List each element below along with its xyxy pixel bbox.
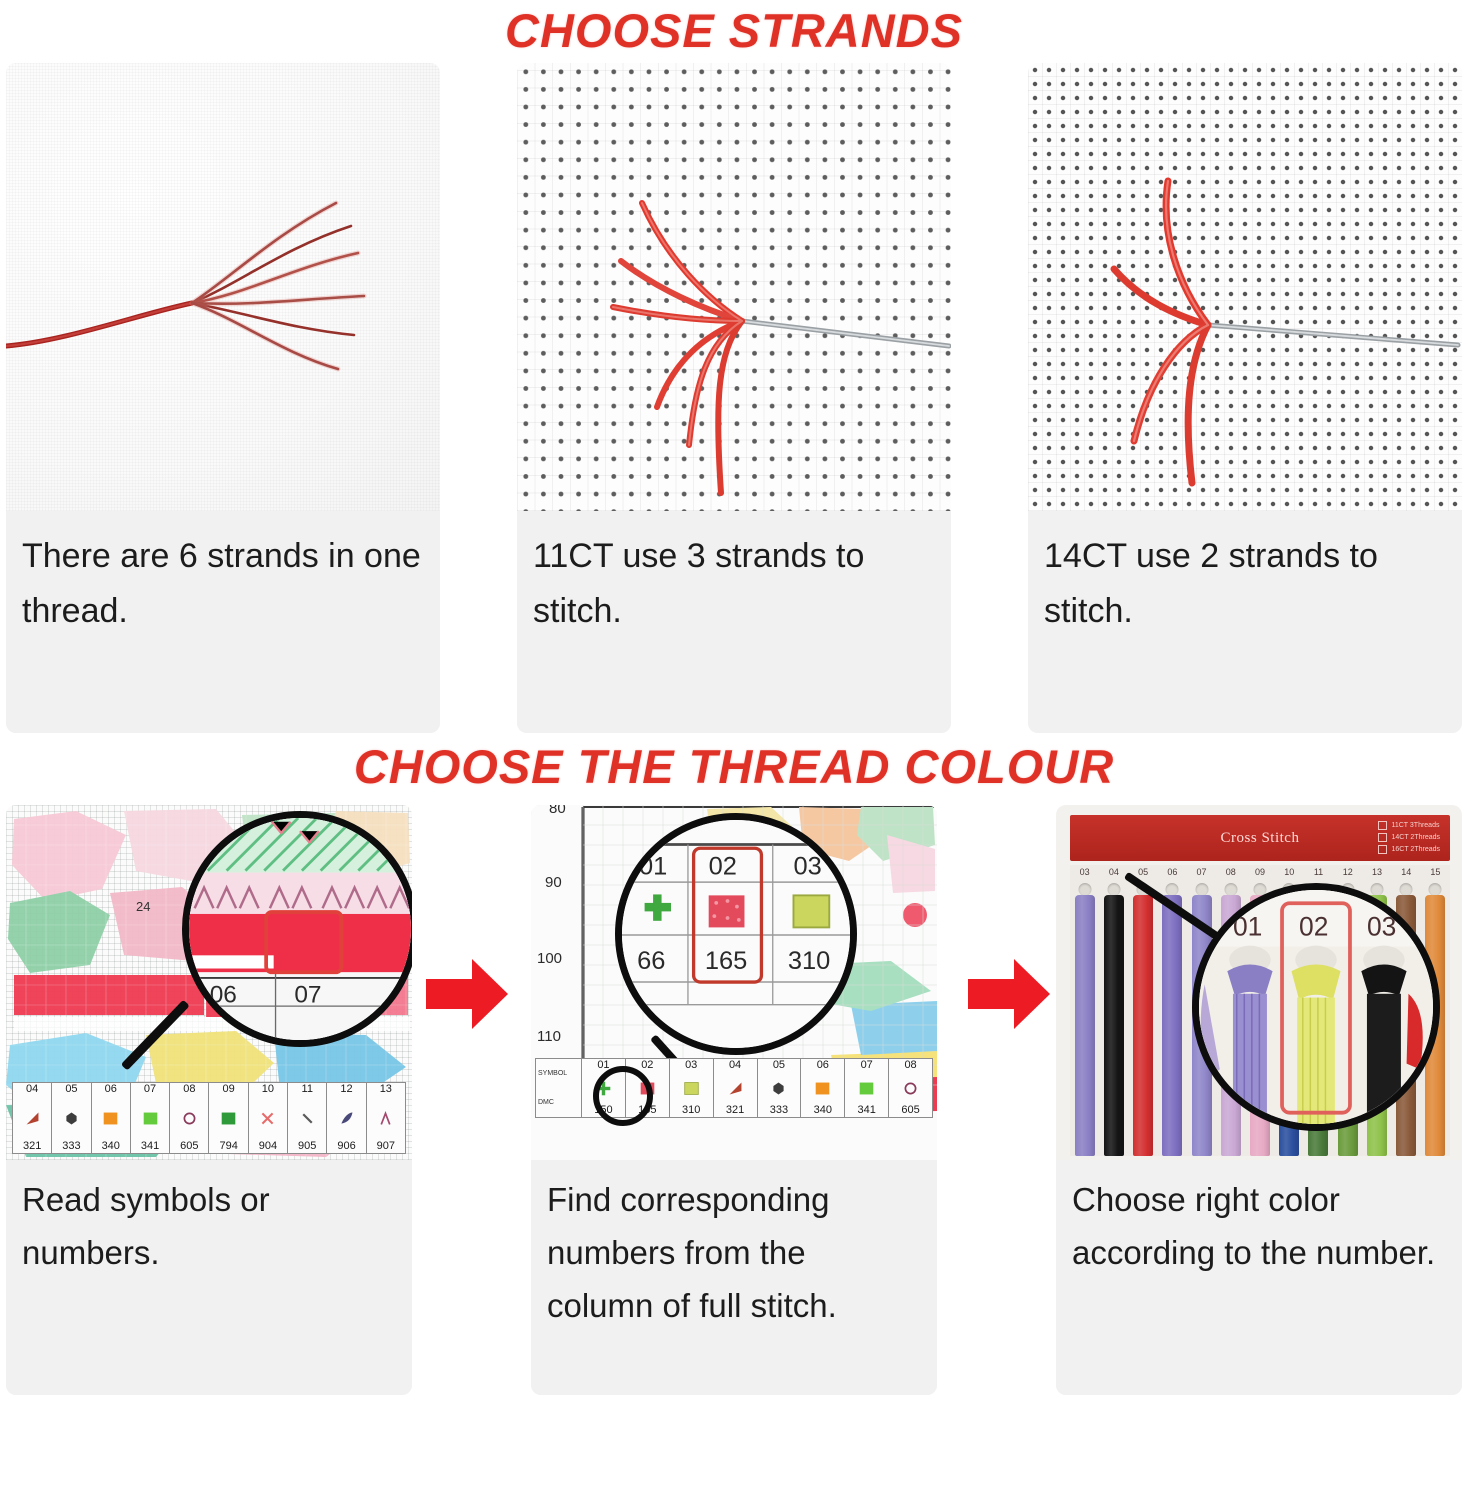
legend-cell-dmc-code: 605 [901,1105,919,1116]
caption-six-strands: There are 6 strands in one thread. [6,511,440,733]
thread-skein-number: 12 [1333,867,1362,877]
sewing-needle-icon [1208,325,1458,345]
card-choose-color: Cross Stitch 11CT 3Threads14CT 2Threads1… [1056,805,1462,1395]
magnified-column-02: 02 [709,853,737,881]
card-find-numbers: 80 90 100 110 [531,805,937,1395]
strands-card-row: There are 6 strands in one thread. [0,63,1468,733]
legend-cell-dmc-code: 906 [337,1141,355,1152]
yellow-green-square-icon [683,1080,700,1097]
dark-green-square-icon [220,1110,237,1127]
legend-cell-dmc-code: 907 [377,1141,395,1152]
section-heading-choose-strands: CHOOSE STRANDS [0,0,1468,63]
thread-skein-number: 11 [1304,867,1333,877]
thread-board-header: Cross Stitch 11CT 3Threads14CT 2Threads1… [1070,815,1450,861]
thread-skein[interactable]: 05 [1128,881,1157,1156]
legend-cell: 05333 [52,1083,91,1153]
magnified-skein-number-02: 02 [1299,911,1328,941]
magnified-cell-number-left: 06 [210,981,237,1008]
legend-cell-dmc-code: 905 [298,1141,316,1152]
magnified-skein-detail: 01 02 03 [1199,890,1433,1124]
thread-count-option[interactable]: 16CT 2Threads [1378,845,1440,854]
orange-square-icon [814,1080,831,1097]
photo-pattern-key: 80 90 100 110 [531,805,937,1160]
green-square-icon [858,1080,875,1097]
legend-cell: 07341 [845,1059,889,1117]
orange-square-icon [102,1110,119,1127]
legend-cell-number: 07 [144,1084,156,1095]
sewing-needle-icon [742,321,949,346]
caption-choose-color: Choose right color according to the numb… [1056,1160,1462,1395]
pattern-legend-table: 0432105333063400734108605097941090411905… [12,1082,406,1154]
caption-11ct: 11CT use 3 strands to stitch. [517,511,951,733]
legend-row-labels: SYMBOLDMC [536,1059,582,1117]
legend-cell-number: 08 [183,1084,195,1095]
six-strand-thread-illustration [6,63,440,511]
thread-skein-number: 09 [1245,867,1274,877]
circle-outline-icon [902,1080,919,1097]
photo-pattern-chart: 24 [6,805,412,1160]
legend-cell-number: 08 [904,1060,916,1071]
legend-cell-dmc-code: 341 [858,1105,876,1116]
legend-cell-dmc-code: 321 [726,1105,744,1116]
legend-cell-dmc-code: 341 [141,1141,159,1152]
legend-cell-number: 05 [65,1084,77,1095]
legend-cell-dmc-code: 333 [770,1105,788,1116]
legend-cell-number: 04 [26,1084,38,1095]
checkbox-icon[interactable] [1378,845,1387,854]
skein-01-purple [1227,965,1272,1124]
card-11ct: 11CT use 3 strands to stitch. [517,63,951,733]
magnified-skein-number-03: 03 [1367,911,1396,941]
photo-14ct [1028,63,1462,511]
green-square-icon [142,1110,159,1127]
legend-cell-dmc-code: 333 [62,1141,80,1152]
needle-and-two-strands-illustration [1028,63,1462,511]
legend-cell-dmc-code: 340 [814,1105,832,1116]
legend-cell-dmc-code: 340 [102,1141,120,1152]
legend-cell-number: 13 [380,1084,392,1095]
legend-cell: 12906 [327,1083,366,1153]
legend-cell-dmc-code: 904 [259,1141,277,1152]
magnified-colour-key-detail: 01 02 03 66 165 [622,820,850,1048]
skein-02-yellow [1291,965,1340,1124]
legend-cell-dmc-code: 310 [682,1105,700,1116]
axis-label-100: 100 [537,950,562,967]
caption-find-numbers: Find corresponding numbers from the colu… [531,1160,937,1395]
triangle-flag-icon [727,1080,744,1097]
thread-board-title: Cross Stitch [1221,830,1300,847]
checkbox-icon[interactable] [1378,833,1387,842]
legend-cell: 06340 [92,1083,131,1153]
legend-cell-number: 04 [729,1060,741,1071]
legend-cell: 13907 [367,1083,405,1153]
x-cross-icon [259,1110,276,1127]
axis-label-110: 110 [537,1028,561,1045]
magnifier-lens-colour-key[interactable]: 01 02 03 66 165 [615,813,857,1055]
skein-floss-bundle [1133,895,1153,1156]
magnified-column-01: 01 [639,853,667,881]
yellow-green-square-icon [793,895,829,927]
caption-14ct: 14CT use 2 strands to stitch. [1028,511,1462,733]
magnified-pattern-detail: 06 07 [189,818,411,1040]
right-arrow-icon [966,955,1052,1033]
skein-floss-bundle [1104,895,1124,1156]
thread-count-options: 11CT 3Threads14CT 2Threads16CT 2Threads [1378,821,1440,854]
legend-cell-number: 11 [302,1084,313,1095]
legend-cell: 08605 [170,1083,209,1153]
legend-cell: 07341 [131,1083,170,1153]
magnified-code-66: 66 [637,947,665,975]
magnified-column-03: 03 [793,853,821,881]
needle-and-three-strands-illustration [517,63,951,511]
photo-thread-board: Cross Stitch 11CT 3Threads14CT 2Threads1… [1056,805,1462,1160]
axis-label-80: 80 [549,805,566,817]
legend-cell-dmc-code: 321 [23,1141,41,1152]
caret-icon [377,1110,394,1127]
thread-skein-number: 03 [1070,867,1099,877]
thread-skein[interactable]: 04 [1099,881,1128,1156]
legend-cell-number: 05 [773,1060,785,1071]
legend-row-label: SYMBOL [538,1070,581,1077]
legend-cell: 04321 [13,1083,52,1153]
legend-cell: 08605 [889,1059,932,1117]
legend-row-label: DMC [538,1099,581,1106]
legend-cell: 10904 [249,1083,288,1153]
thread-skein[interactable]: 06 [1158,881,1187,1156]
thread-skein-number: 07 [1187,867,1216,877]
thread-skein-number: 08 [1216,867,1245,877]
checkbox-icon[interactable] [1378,821,1387,830]
magnified-cell-number-right: 07 [294,981,321,1008]
legend-cell-number: 02 [641,1060,653,1071]
legend-cell: 03310 [670,1059,714,1117]
legend-cell-dmc-code: 605 [180,1141,198,1152]
card-14ct: 14CT use 2 strands to stitch. [1028,63,1462,733]
right-arrow-icon [424,955,510,1033]
thread-skein-number: 06 [1158,867,1187,877]
thread-skein-number: 14 [1392,867,1421,877]
legend-cell: 09794 [209,1083,248,1153]
hexagon-icon [63,1110,80,1127]
colour-card-row: 24 [0,805,1468,1395]
magnifier-lens-skeins[interactable]: 01 02 03 [1192,883,1440,1131]
card-read-symbols: 24 [6,805,412,1395]
legend-cell-number: 06 [817,1060,829,1071]
diagonal-line-icon [299,1110,316,1127]
section-heading-choose-thread-colour: CHOOSE THE THREAD COLOUR [0,733,1468,805]
skein-03-black [1361,965,1406,1124]
triangle-flag-icon [24,1110,41,1127]
magnifier-lens-pattern[interactable]: 06 07 [182,811,412,1047]
thread-skein[interactable]: 03 [1070,881,1099,1156]
legend-circle-marker [593,1066,653,1126]
legend-cell-number: 12 [340,1084,352,1095]
magnified-code-165: 165 [705,947,747,975]
photo-six-strands [6,63,440,511]
magnified-code-310: 310 [788,947,830,975]
card-six-strands: There are 6 strands in one thread. [6,63,440,733]
thread-count-option-label: 16CT 2Threads [1391,846,1440,853]
caption-read-symbols: Read symbols or numbers. [6,1160,412,1395]
axis-label-90: 90 [545,874,562,891]
skein-floss-bundle [1075,895,1095,1156]
skein-floss-bundle [1162,895,1182,1156]
thread-count-option[interactable]: 14CT 2Threads [1378,833,1440,842]
legend-cell-number: 06 [105,1084,117,1095]
thread-skein-number: 13 [1362,867,1391,877]
magnified-skein-number-01: 01 [1233,911,1262,941]
hexagon-icon [770,1080,787,1097]
thread-count-option[interactable]: 11CT 3Threads [1378,821,1440,830]
leaf-icon [338,1110,355,1127]
photo-11ct [517,63,951,511]
circle-outline-icon [181,1110,198,1127]
legend-cell: 04321 [714,1059,758,1117]
legend-cell-number: 07 [861,1060,873,1071]
legend-cell: 11905 [288,1083,327,1153]
thread-count-option-label: 14CT 2Threads [1391,834,1440,841]
legend-cell-dmc-code: 794 [219,1141,237,1152]
legend-cell: 06340 [801,1059,845,1117]
thread-skein-number: 10 [1275,867,1304,877]
legend-cell-number: 10 [262,1084,274,1095]
thread-skein-number: 15 [1421,867,1450,877]
legend-cell-number: 09 [223,1084,235,1095]
legend-cell-number: 03 [685,1060,697,1071]
thread-count-option-label: 11CT 3Threads [1391,822,1439,829]
chart-cell-label: 24 [136,899,150,914]
legend-cell: 05333 [758,1059,802,1117]
